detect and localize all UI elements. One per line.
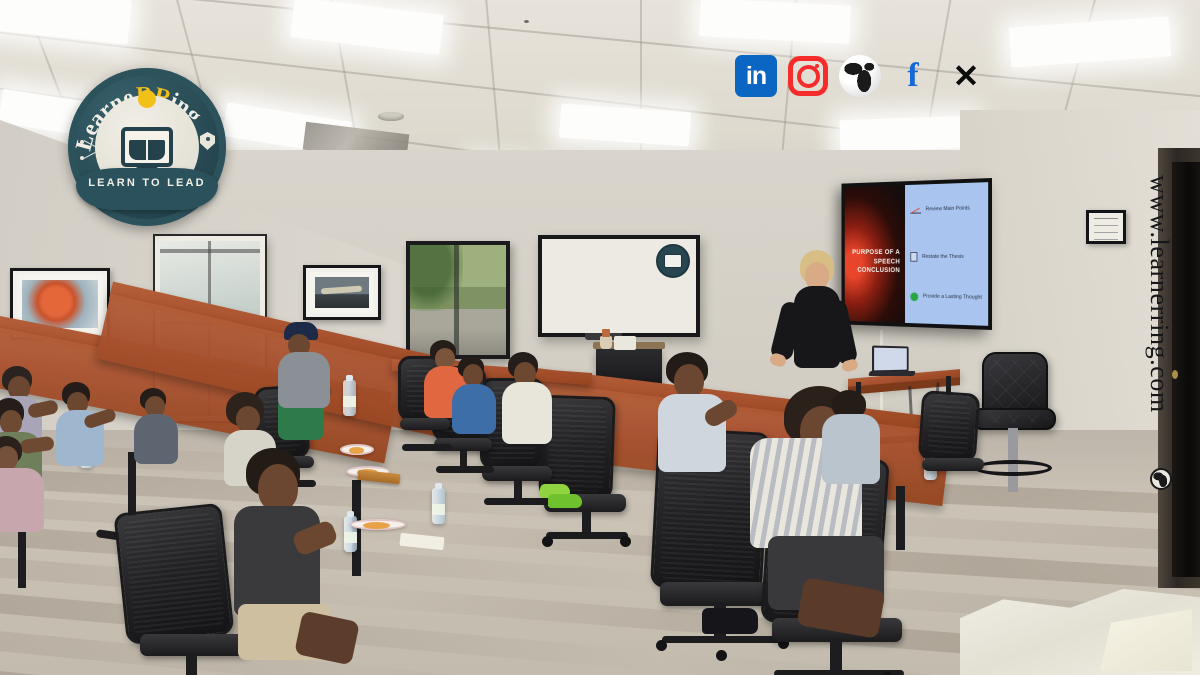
student [136, 388, 202, 462]
framed-certificate [1086, 210, 1126, 244]
chair-base [484, 498, 554, 505]
network-node-icon [80, 140, 100, 160]
logo-tagline: LEARN TO LEAD [76, 177, 218, 189]
student [58, 382, 138, 468]
ceiling-fixture-dot [524, 20, 529, 23]
whiteboard [538, 235, 700, 337]
chair-caster [542, 536, 553, 547]
student-torso [134, 414, 178, 464]
chair-seat [400, 418, 450, 430]
student-head [0, 410, 22, 434]
adult-supervisor [278, 322, 350, 402]
student-head [258, 464, 298, 512]
linkedin-glyph: in [746, 64, 766, 89]
smoke-detector-icon [378, 112, 404, 121]
student-head [463, 364, 483, 386]
classroom-photo: PURPOSE OF A SPEECH CONCLUSION Review Ma… [0, 0, 1200, 675]
framed-osprey-photo [303, 265, 381, 320]
document-icon [911, 252, 918, 262]
student [822, 390, 902, 490]
adult-torso [278, 352, 330, 408]
logo-tagline-banner: LEARN TO LEAD [76, 168, 218, 210]
slide-content-panel: Review Main Points Restate the Thesis Pr… [905, 182, 988, 326]
chair-post [186, 654, 197, 675]
helicopter-image [22, 280, 98, 328]
linkedin-icon[interactable]: in [735, 55, 777, 97]
student-torso [452, 384, 496, 434]
line-chart-icon [911, 206, 922, 215]
slide-bullet: Provide a Lasting Thought [911, 292, 985, 302]
social-icon-row: in f ✕ [735, 55, 987, 97]
student-head [236, 406, 260, 432]
learnerring-logo-sticker [656, 244, 690, 278]
open-book-icon [129, 140, 165, 160]
laptop-keyboard [868, 371, 916, 376]
chair-back [113, 503, 234, 646]
chair-seat [922, 458, 984, 471]
chair-caster [620, 536, 631, 547]
laptop-screen [872, 345, 909, 372]
shield-icon [200, 132, 215, 150]
marker-cup [600, 336, 612, 349]
tissue-box [614, 336, 636, 350]
sun-icon [138, 90, 156, 108]
chair-base [402, 444, 452, 451]
student-head [674, 364, 704, 398]
paper-plate [350, 519, 406, 530]
black-shoe [702, 608, 758, 634]
slide-bullet-text: Review Main Points [926, 206, 970, 213]
globe-icon [1150, 468, 1172, 490]
student-torso [822, 414, 880, 484]
facebook-glyph: f [907, 59, 918, 93]
x-glyph: ✕ [953, 60, 980, 92]
slide-bullet: Restate the Thesis [911, 252, 985, 262]
slide-bullet-text: Restate the Thesis [922, 254, 964, 260]
instagram-icon[interactable] [788, 56, 828, 96]
student-torso [502, 382, 552, 444]
chair-base [546, 532, 628, 539]
monitor-icon [121, 127, 173, 167]
student [228, 448, 358, 675]
chair-caster [656, 640, 667, 651]
osprey-image [315, 277, 369, 308]
chair-back [918, 390, 981, 464]
chair-caster [716, 650, 727, 661]
green-sneaker [548, 494, 582, 508]
office-chair[interactable] [920, 392, 1012, 512]
student [656, 352, 756, 472]
student-torso [0, 468, 44, 532]
student-head [0, 446, 18, 470]
student [500, 352, 572, 444]
slide-bullet-text: Provide a Lasting Thought [923, 294, 982, 301]
slide-bullet: Review Main Points [911, 204, 985, 214]
learnerring-logo-badge: Learne RR ing LEARN TO LEAD [68, 68, 226, 226]
facebook-icon[interactable]: f [892, 55, 934, 97]
presenter [772, 250, 862, 390]
wall-mounted-tv[interactable]: PURPOSE OF A SPEECH CONCLUSION Review Ma… [841, 178, 992, 330]
globe-icon[interactable] [839, 55, 881, 97]
x-twitter-icon[interactable]: ✕ [945, 55, 987, 97]
green-dot-icon [911, 292, 919, 301]
student-torso [234, 506, 320, 616]
website-watermark: www.learnerring.com [1144, 175, 1174, 413]
panel-light [839, 116, 972, 153]
